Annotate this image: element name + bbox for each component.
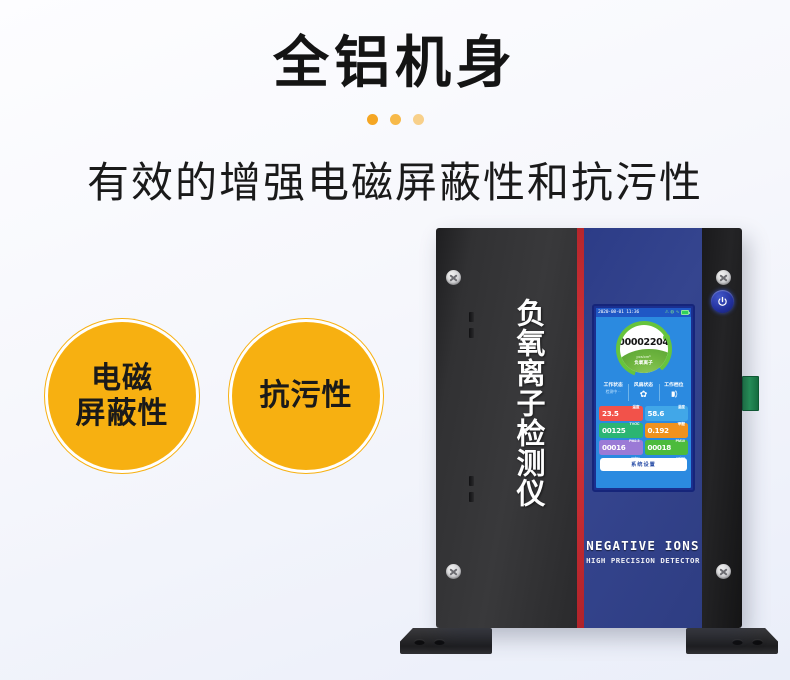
metric-meta-pm25: PM2.5 ug/m³: [629, 430, 639, 464]
headline-block: 全铝机身 有效的增强电磁屏蔽性和抗污性: [0, 0, 790, 210]
metric-name-temperature: 温度: [632, 405, 639, 409]
device-vertical-name: 负氧离子检测仪: [488, 298, 544, 508]
lcd-screen-frame: 2020-08-01 11:36 ⚠ ◍ ∿ 00002204: [592, 304, 695, 492]
lcd-statusbar: 2020-08-01 11:36 ⚠ ◍ ∿: [596, 308, 691, 317]
lcd-screen[interactable]: 2020-08-01 11:36 ⚠ ◍ ∿ 00002204: [596, 308, 691, 488]
dot-separator: [0, 114, 790, 125]
metric-tiles: 23.5 温度 ℃ 58.6 湿度 %RH 00: [596, 404, 691, 455]
screw-top-right: [716, 270, 731, 285]
status-work-level-title: 工作档位: [659, 381, 689, 388]
metric-tile-pm25[interactable]: 00016 PM2.5 ug/m³: [599, 440, 643, 455]
wifi-icon: ∿: [676, 310, 680, 315]
metric-value-formaldehyde: 0.192: [648, 426, 669, 435]
ion-gauge-wrap: 00002204 pcs/cm³ 负氧离子: [596, 317, 691, 380]
feature-emi-line1: 电磁: [91, 361, 153, 396]
status-fan-state-title: 风扇状态: [628, 381, 658, 388]
separator-dot-2: [390, 114, 401, 125]
device-foot-left: [400, 628, 492, 654]
alert-icon: ⚠: [665, 310, 669, 315]
terminal-connector: [742, 376, 759, 411]
status-work-state-value: 检测中 ··: [598, 390, 628, 395]
screw-top-left: [446, 270, 461, 285]
metric-value-pm25: 00016: [602, 443, 626, 452]
screw-bottom-right: [716, 564, 731, 579]
ion-gauge: 00002204 pcs/cm³ 负氧离子: [616, 321, 672, 377]
metric-value-pm10: 00018: [648, 443, 672, 452]
gauge-inner: 00002204 pcs/cm³ 负氧离子: [620, 325, 668, 373]
status-work-state: 工作状态 检测中 ··: [598, 381, 628, 404]
battery-icon: [681, 310, 689, 315]
side-vent-1: [469, 312, 474, 322]
page-title: 全铝机身: [0, 0, 790, 92]
metric-name-pm25: PM2.5: [629, 439, 639, 443]
side-vent-3: [469, 476, 474, 486]
foot-hole-left-1: [414, 639, 425, 645]
device-red-stripe: [577, 228, 584, 628]
feature-badge-emi-shielding: 电磁 屏蔽性: [48, 322, 196, 470]
device-body: 负氧离子检测仪 NEGATIVE IONS HIGH PRECISION DET…: [436, 228, 742, 628]
side-vent-4: [469, 492, 474, 502]
metric-name-pm10: PM10: [676, 439, 685, 443]
metric-meta-pm10: PM10 ug/m³: [676, 430, 685, 464]
foot-hole-right-2: [752, 639, 763, 645]
separator-dot-1: [367, 114, 378, 125]
device-brand-block: NEGATIVE IONS HIGH PRECISION DETECTOR: [586, 538, 700, 565]
feature-emi-line2: 屏蔽性: [76, 396, 169, 431]
screw-bottom-left: [446, 564, 461, 579]
metric-tile-pm10[interactable]: 00018 PM10 ug/m³: [645, 440, 689, 455]
separator-dot-3: [413, 114, 424, 125]
power-button[interactable]: [711, 290, 734, 313]
metric-name-formaldehyde: 甲醛: [678, 422, 685, 426]
foot-hole-right-1: [732, 639, 743, 645]
side-vent-2: [469, 328, 474, 338]
foot-hole-left-2: [434, 639, 445, 645]
metric-unit-pm10: ug/m³: [676, 456, 685, 460]
power-icon: [717, 296, 728, 307]
metric-name-tvoc: TVOC: [630, 422, 640, 426]
metric-name-humidity: 湿度: [678, 405, 685, 409]
brand-tagline: HIGH PRECISION DETECTOR: [586, 556, 700, 565]
device-foot-right: [686, 628, 778, 654]
status-work-state-title: 工作状态: [598, 381, 628, 388]
page-subtitle: 有效的增强电磁屏蔽性和抗污性: [0, 149, 790, 210]
metric-unit-pm25: ug/m³: [631, 456, 640, 460]
feature-badge-anti-label: 抗污性: [260, 378, 353, 413]
metric-value-tvoc: 00125: [602, 426, 626, 435]
lcd-status-icons: ⚠ ◍ ∿: [665, 310, 689, 315]
product-device: 负氧离子检测仪 NEGATIVE IONS HIGH PRECISION DET…: [400, 228, 760, 658]
lcd-timestamp: 2020-08-01 11:36: [598, 310, 639, 315]
clock-icon: ◍: [670, 310, 674, 315]
feature-badge-anti-fouling: 抗污性: [232, 322, 380, 470]
feature-anti-line1: 抗污性: [260, 378, 353, 413]
system-settings-button[interactable]: 系统设置: [600, 458, 687, 471]
ion-value: 00002204: [620, 337, 668, 348]
feature-badge-emi-label: 电磁 屏蔽性: [76, 361, 169, 432]
brand-name: NEGATIVE IONS: [586, 538, 700, 553]
metric-value-temperature: 23.5: [602, 409, 619, 418]
ion-unit: pcs/cm³: [637, 354, 651, 359]
ion-caption: 负氧离子: [634, 360, 652, 366]
metric-value-humidity: 58.6: [648, 409, 665, 418]
